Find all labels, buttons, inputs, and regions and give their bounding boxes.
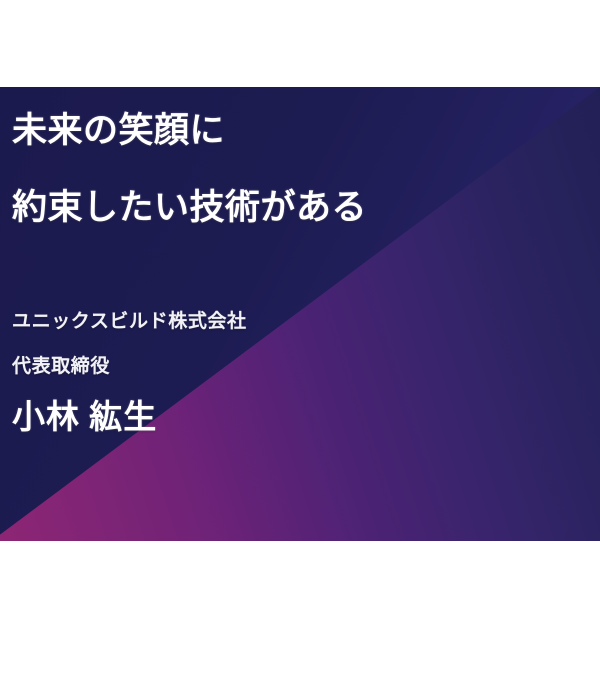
page-margin-top xyxy=(0,0,600,87)
headline-line-2: 約束したい技術がある xyxy=(12,190,367,227)
page-margin-bottom xyxy=(0,541,600,693)
page-root: 未来の笑顔に 約束したい技術がある ユニックスビルド株式会社 代表取締役 小林 … xyxy=(0,0,600,693)
banner-copy: 未来の笑顔に 約束したい技術がある ユニックスビルド株式会社 代表取締役 小林 … xyxy=(0,87,600,541)
person-name: 小林 紘生 xyxy=(12,390,157,438)
hero-banner: 未来の笑顔に 約束したい技術がある ユニックスビルド株式会社 代表取締役 小林 … xyxy=(0,87,600,541)
company-name: ユニックスビルド株式会社 xyxy=(12,306,247,333)
headline-line-1: 未来の笑顔に xyxy=(12,113,225,150)
person-role: 代表取締役 xyxy=(12,351,110,378)
